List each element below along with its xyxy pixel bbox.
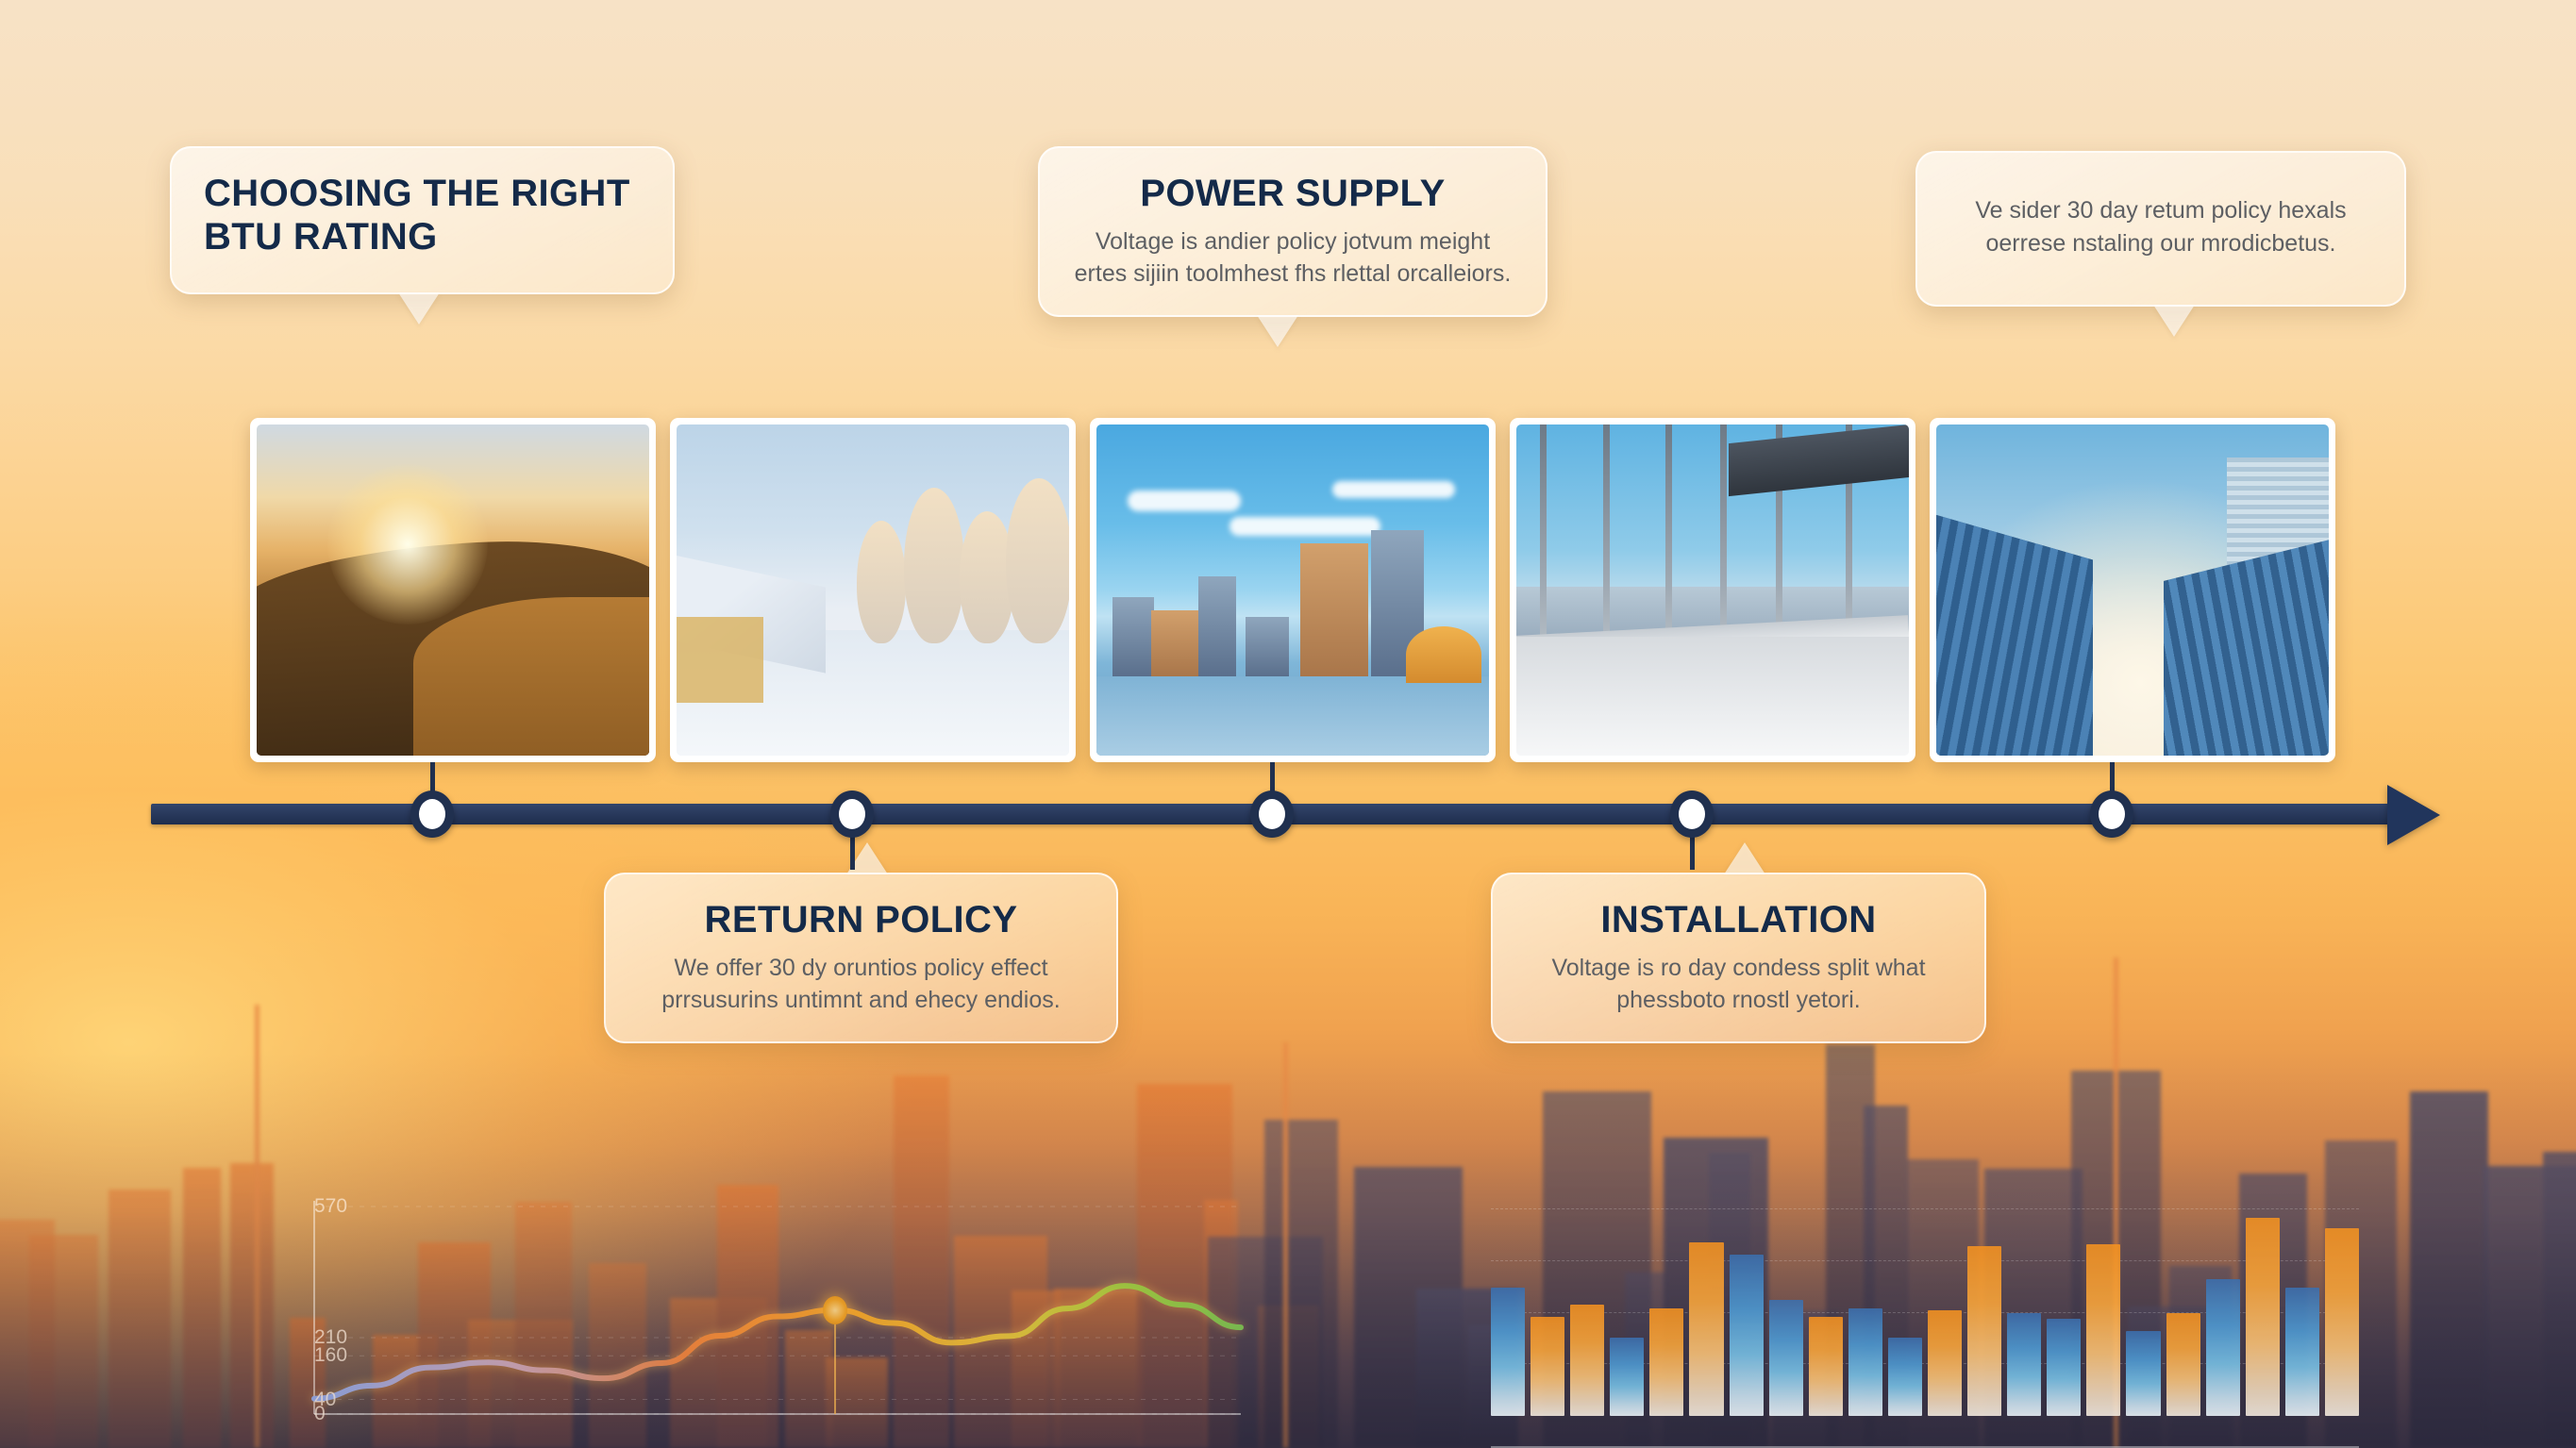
timeline-arrow-icon [2387,785,2440,845]
bar[interactable] [1769,1300,1803,1416]
bar[interactable] [2007,1313,2041,1417]
callout-tail-icon [1257,315,1298,347]
callout-power-supply[interactable]: POWER SUPPLY Voltage is andier policy jo… [1038,146,1547,317]
bar[interactable] [1848,1308,1882,1416]
timeline-node-2[interactable] [830,791,874,838]
callout-title: CHOOSING THE RIGHT BTU RATING [204,173,641,258]
photo-glass[interactable] [1930,418,2335,762]
callout-tail-icon [398,292,440,325]
timeline-node-5[interactable] [2090,791,2133,838]
timeline-node-4[interactable] [1670,791,1714,838]
photo-snow[interactable] [670,418,1076,762]
callout-title: INSTALLATION [1525,899,1952,942]
infographic-canvas: CHOOSING THE RIGHT BTU RATING POWER SUPP… [0,0,2576,1448]
bar[interactable] [2246,1218,2280,1416]
callout-body: We offer 30 dy oruntios policy effect pr… [638,952,1084,1017]
bar[interactable] [2325,1228,2359,1416]
bar[interactable] [2086,1244,2120,1416]
bar[interactable] [1570,1305,1604,1416]
bar[interactable] [1967,1246,2001,1416]
gridline [1491,1260,2359,1261]
photo-desert[interactable] [250,418,656,762]
callout-installation[interactable]: INSTALLATION Voltage is ro day condess s… [1491,873,1986,1043]
bar[interactable] [1928,1310,1962,1416]
bar[interactable] [1531,1317,1564,1416]
callout-tail-icon [1724,842,1765,874]
bar[interactable] [1730,1255,1764,1416]
timeline-node-3[interactable] [1250,791,1294,838]
callout-body: Voltage is ro day condess split what phe… [1525,952,1952,1017]
line-chart: 040210160570 [241,1184,1250,1448]
photo-city[interactable] [1090,418,1496,762]
callout-title: POWER SUPPLY [1072,173,1514,216]
photo-interior[interactable] [1510,418,1915,762]
callout-return-policy-note[interactable]: Ve sider 30 day retum policy hexals oerr… [1915,151,2406,307]
bar[interactable] [2047,1319,2081,1416]
bar[interactable] [2285,1288,2319,1416]
bar-chart [1491,1198,2359,1448]
bar[interactable] [1649,1308,1683,1416]
callout-tail-icon [2153,305,2195,337]
callout-body: Voltage is andier policy jotvum meight e… [1072,225,1514,291]
bar[interactable] [1491,1288,1525,1416]
gridline [1491,1208,2359,1209]
callout-choosing-btu[interactable]: CHOOSING THE RIGHT BTU RATING [170,146,675,294]
bar[interactable] [2166,1313,2200,1417]
line-series [314,1286,1241,1399]
peak-dropline [834,1310,836,1414]
bar[interactable] [2206,1279,2240,1416]
bar[interactable] [2126,1331,2160,1416]
bar[interactable] [1888,1338,1922,1416]
bar[interactable] [1689,1242,1723,1416]
timeline-node-1[interactable] [410,791,454,838]
bar[interactable] [1610,1338,1644,1416]
peak-marker-dot[interactable] [823,1296,847,1324]
bar[interactable] [1809,1317,1843,1416]
callout-title: RETURN POLICY [638,899,1084,942]
callout-return-policy[interactable]: RETURN POLICY We offer 30 dy oruntios po… [604,873,1118,1043]
callout-body: Ve sider 30 day retum policy hexals oerr… [1949,177,2372,280]
